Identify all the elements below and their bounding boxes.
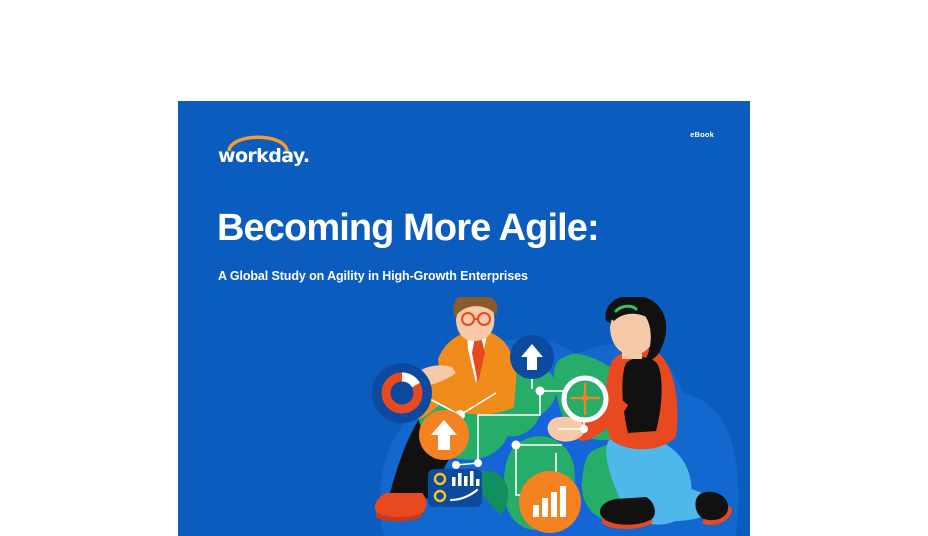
page-subtitle: A Global Study on Agility in High-Growth… <box>218 269 528 283</box>
donut-chart-icon <box>372 363 432 423</box>
ebook-cover-card: workday. eBook Becoming More Agile: A Gl… <box>178 101 750 536</box>
global-agility-illustration <box>364 297 750 536</box>
page-title: Becoming More Agile: <box>217 206 599 250</box>
workday-logo: workday. <box>218 129 304 167</box>
page-root: workday. eBook Becoming More Agile: A Gl… <box>0 0 928 536</box>
dashboard-card-icon <box>428 469 482 507</box>
workday-wordmark: workday. <box>218 145 304 167</box>
bar-chart-icon-orange <box>519 471 581 533</box>
arrow-up-icon-blue <box>510 335 554 379</box>
arrow-up-icon-orange <box>419 410 469 460</box>
ebook-badge: eBook <box>690 130 714 139</box>
illustration-svg <box>364 297 750 536</box>
